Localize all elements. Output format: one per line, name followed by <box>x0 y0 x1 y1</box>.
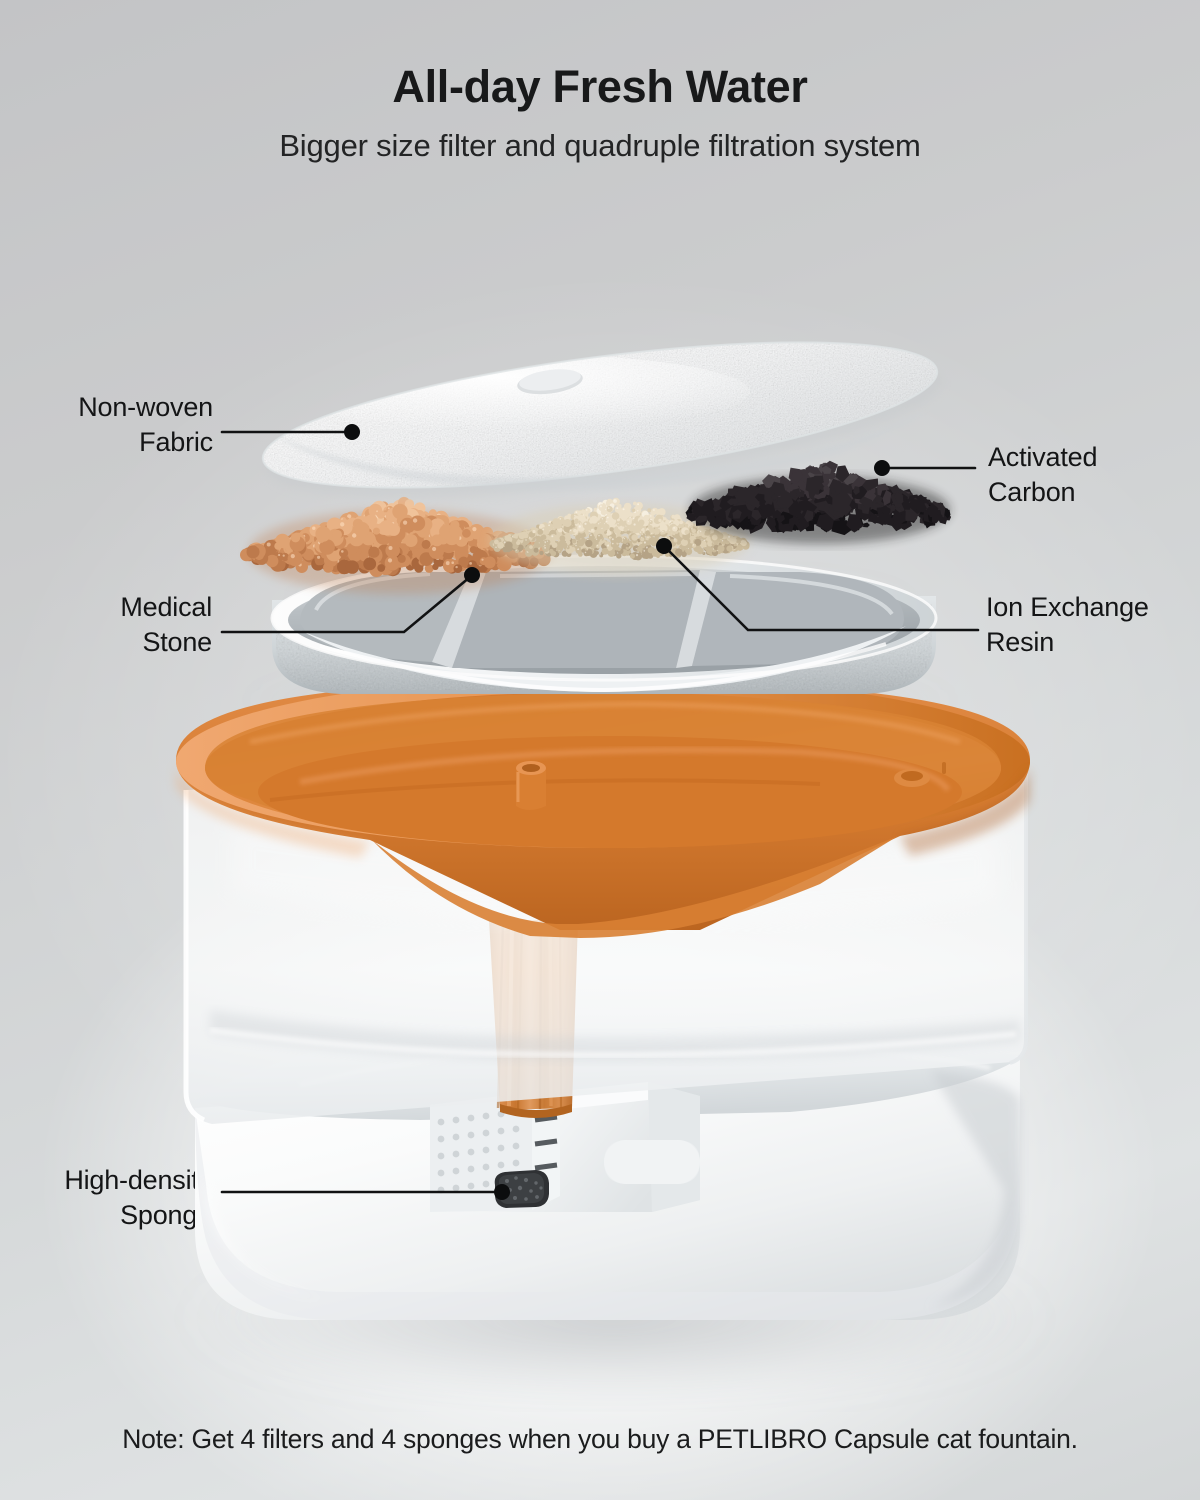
leader-dot-medical <box>464 567 480 583</box>
leader-line-ion <box>666 548 978 630</box>
leader-line-medical <box>222 577 470 632</box>
leader-dot-fabric <box>344 424 360 440</box>
leader-dot-sponge <box>494 1184 510 1200</box>
leader-dot-ion <box>656 538 672 554</box>
callout-leader-lines <box>0 0 1200 1500</box>
infographic-canvas: All-day Fresh Water Bigger size filter a… <box>0 0 1200 1500</box>
leader-dot-carbon <box>874 460 890 476</box>
